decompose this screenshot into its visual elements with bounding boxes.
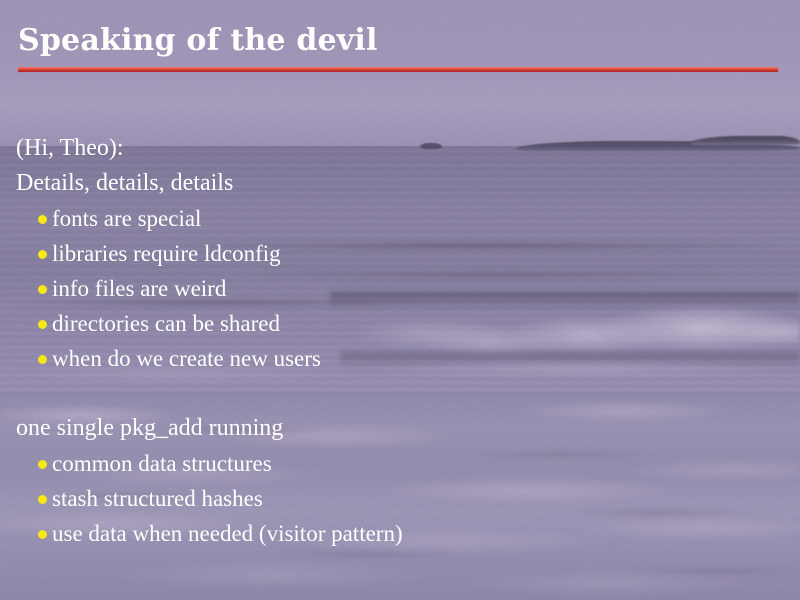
bullet-list-item: common data structures — [0, 446, 800, 481]
bullet-dot-icon — [38, 530, 47, 539]
slide-content: Speaking of the devil (Hi, Theo):Details… — [0, 0, 800, 600]
bullet-dot-icon — [38, 250, 47, 259]
bullet-list-item-label: when do we create new users — [52, 346, 321, 371]
bullet-list-item: info files are weird — [0, 271, 800, 306]
bullet-dot-icon — [38, 355, 47, 364]
bullet-dot-icon — [38, 460, 47, 469]
presentation-slide: Speaking of the devil (Hi, Theo):Details… — [0, 0, 800, 600]
bullet-list-item-label: common data structures — [52, 451, 272, 476]
content-block-two: one single pkg_add runningcommon data st… — [0, 411, 800, 551]
bullet-list-item-label: fonts are special — [52, 206, 201, 231]
bullet-list-item: when do we create new users — [0, 341, 800, 376]
bullet-dot-icon — [38, 320, 47, 329]
bullet-list-item-label: info files are weird — [52, 276, 226, 301]
bullet-dot-icon — [38, 215, 47, 224]
title-underline-rule — [18, 67, 778, 72]
bullet-list-item-label: directories can be shared — [52, 311, 280, 336]
slide-title: Speaking of the devil — [18, 22, 378, 60]
bullet-dot-icon — [38, 285, 47, 294]
content-block-one: (Hi, Theo):Details, details, detailsfont… — [0, 131, 800, 376]
bullet-list-item: libraries require ldconfig — [0, 236, 800, 271]
bullet-list-item-label: libraries require ldconfig — [52, 241, 281, 266]
outline-line-level1: one single pkg_add running — [0, 411, 800, 446]
bullet-list-item-label: use data when needed (visitor pattern) — [52, 521, 403, 546]
bullet-list-item: fonts are special — [0, 201, 800, 236]
bullet-list-item: stash structured hashes — [0, 481, 800, 516]
outline-line-level1: Details, details, details — [0, 166, 800, 201]
bullet-list-item: use data when needed (visitor pattern) — [0, 516, 800, 551]
bullet-list-item-label: stash structured hashes — [52, 486, 263, 511]
bullet-dot-icon — [38, 495, 47, 504]
outline-line-level1: (Hi, Theo): — [0, 131, 800, 166]
bullet-list-item: directories can be shared — [0, 306, 800, 341]
